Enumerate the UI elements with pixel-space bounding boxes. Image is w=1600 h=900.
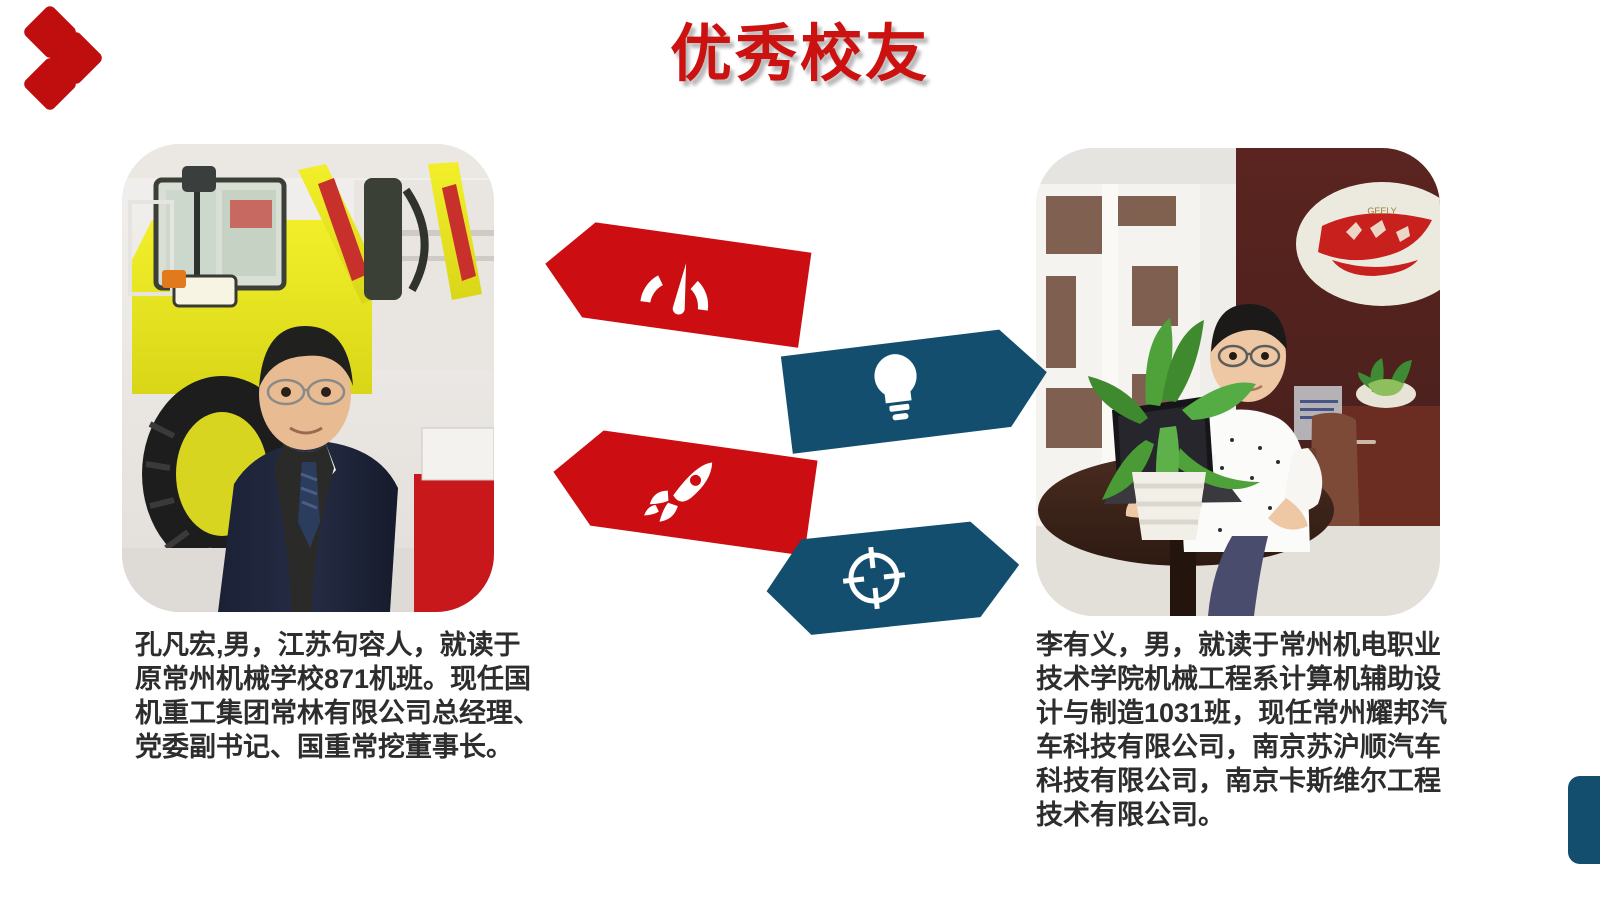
chevron-1[interactable] xyxy=(540,222,810,342)
slide-canvas: 优秀校友 xyxy=(0,0,1600,900)
alumnus-left-photo xyxy=(122,144,494,612)
alumnus-left-caption: 孔凡宏,男，江苏句容人，就读于原常州机械学校871机班。现任国机重工集团常林有限… xyxy=(135,628,547,764)
page-title: 优秀校友 xyxy=(0,16,1600,94)
chevron-4[interactable] xyxy=(762,520,1024,638)
svg-text:GEELY: GEELY xyxy=(1367,206,1396,216)
alumnus-right-caption: 李有义，男，就读于常州机电职业技术学院机械工程系计算机辅助设计与制造1031班，… xyxy=(1036,628,1466,832)
alumnus-right-photo: GEELY xyxy=(1036,148,1440,616)
corner-accent-shape xyxy=(1568,776,1600,864)
chevron-2[interactable] xyxy=(782,330,1054,450)
